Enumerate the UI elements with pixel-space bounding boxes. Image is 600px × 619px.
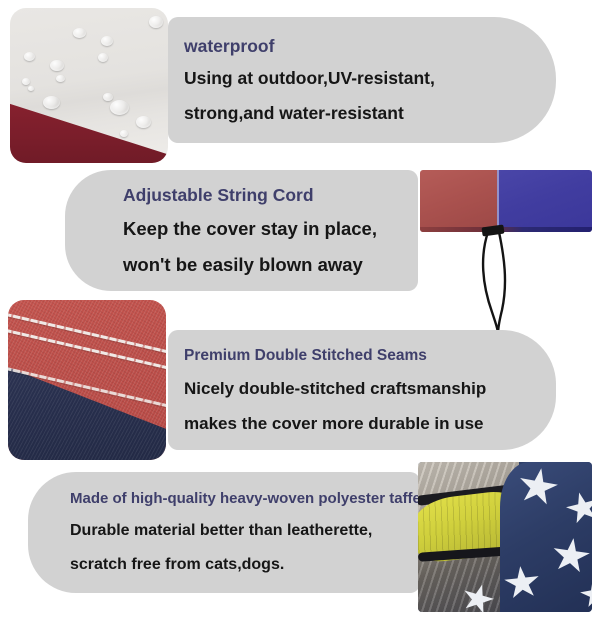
water-drop — [28, 86, 34, 91]
water-drop — [103, 93, 113, 101]
feature-line: strong,and water-resistant — [184, 96, 556, 131]
water-drop — [110, 100, 129, 115]
drawstring-cord-photo — [420, 170, 592, 232]
feature-panel-waterproof: waterproof Using at outdoor,UV-resistant… — [168, 17, 556, 143]
water-drop — [149, 16, 163, 28]
feature-heading-premium-double-stitched-seams: Premium Double Stitched Seams — [184, 341, 556, 371]
water-drop — [136, 116, 151, 128]
feature-line: Nicely double-stitched craftsmanship — [184, 371, 556, 406]
water-drop — [24, 52, 35, 61]
infographic-canvas: waterproof Using at outdoor,UV-resistant… — [0, 0, 600, 619]
water-drop — [22, 78, 30, 85]
water-drop — [120, 130, 128, 137]
feature-line: Using at outdoor,UV-resistant, — [184, 61, 556, 96]
feature-panel-polyester-taffeta: Made of high-quality heavy-woven polyest… — [28, 472, 420, 593]
water-drop — [50, 60, 64, 71]
feature-heading-polyester-taffeta: Made of high-quality heavy-woven polyest… — [70, 483, 420, 514]
feature-line: Keep the cover stay in place, — [123, 211, 418, 247]
cover-blue-section — [497, 170, 592, 232]
cover-hem — [420, 227, 592, 232]
water-drop — [73, 28, 86, 38]
double-stitched-seam-photo — [8, 300, 166, 460]
water-drop — [43, 96, 60, 109]
feature-heading-adjustable-string-cord: Adjustable String Cord — [123, 180, 418, 211]
cover-red-section — [420, 170, 497, 232]
feature-heading-waterproof: waterproof — [184, 31, 556, 61]
water-drop — [98, 53, 108, 62]
feature-line: Durable material better than leatherette… — [70, 514, 420, 548]
feature-panel-adjustable-string-cord: Adjustable String Cord Keep the cover st… — [65, 170, 418, 291]
feature-line: won't be easily blown away — [123, 247, 418, 283]
feature-panel-premium-double-stitched-seams: Premium Double Stitched Seams Nicely dou… — [168, 330, 556, 450]
cover-seam — [497, 170, 499, 232]
feature-line: scratch free from cats,dogs. — [70, 548, 420, 582]
water-droplets-on-fabric-photo — [10, 8, 168, 163]
flag-star-field-photo — [418, 462, 592, 612]
feature-line: makes the cover more durable in use — [184, 406, 556, 441]
water-drop — [101, 36, 113, 46]
water-drop — [56, 75, 65, 82]
